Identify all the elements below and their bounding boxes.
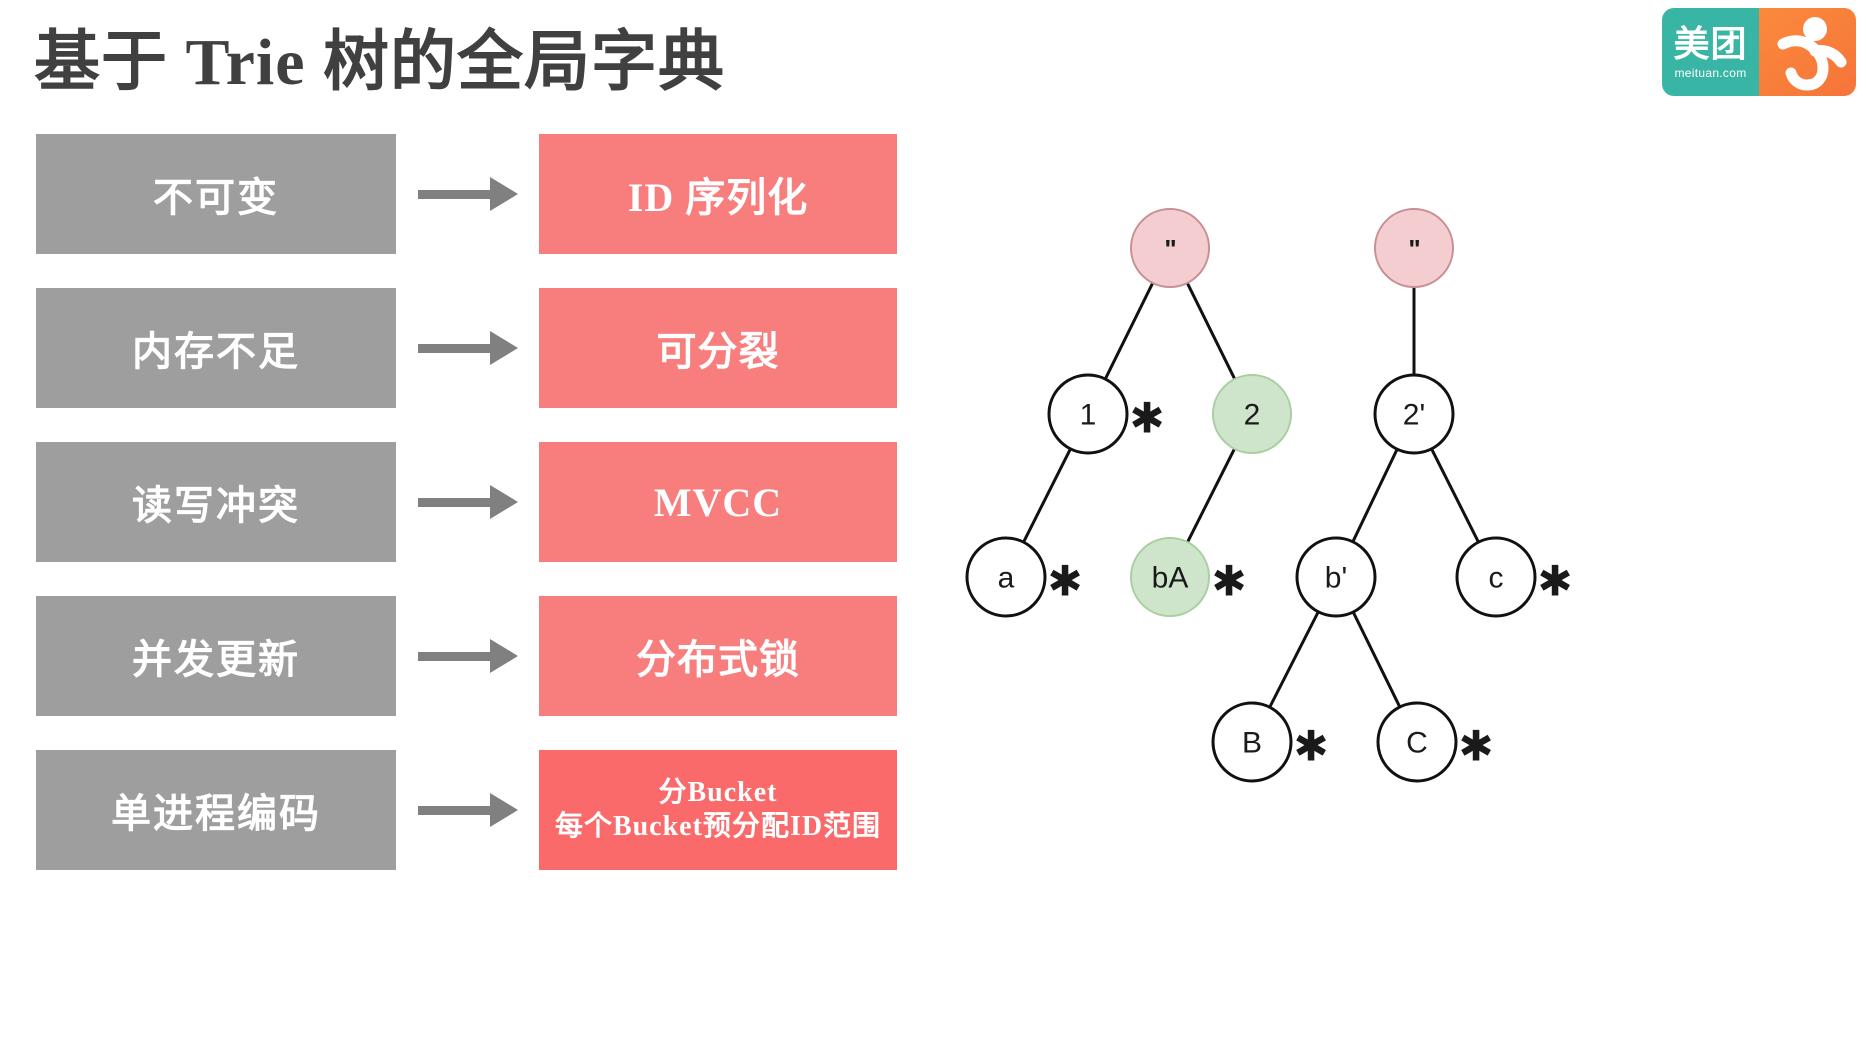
problem-label-2: 内存不足 — [132, 319, 300, 377]
trie-node-B[interactable]: B✱ — [1213, 703, 1329, 781]
logo-wordmark-panel: 美团 meituan.com — [1662, 8, 1759, 96]
solution-label-4: 分布式锁 — [636, 627, 800, 685]
solution-label-3: MVCC — [654, 479, 782, 526]
arrow-right-icon-1 — [418, 177, 518, 211]
arrow-right-icon-5 — [418, 793, 518, 827]
trie-node-[interactable]: " — [1375, 209, 1453, 287]
solution-label-5: 分Bucket 每个Bucket预分配ID范围 — [555, 776, 881, 844]
trie-node-label: 1 — [1080, 399, 1097, 432]
solution-label-5-line2: 每个Bucket预分配ID范围 — [555, 810, 881, 844]
terminal-star-icon: ✱ — [1129, 395, 1164, 442]
trie-edge — [1187, 283, 1234, 379]
trie-edge — [1024, 449, 1071, 542]
trie-node-label: a — [998, 562, 1015, 595]
trie-node-label: C — [1406, 727, 1428, 760]
problem-box-1: 不可变 — [36, 134, 396, 254]
trie-edge — [1353, 449, 1397, 542]
problem-box-4: 并发更新 — [36, 596, 396, 716]
arrow-shaft — [418, 806, 490, 815]
trie-node-2'[interactable]: 2' — [1375, 375, 1453, 453]
right-trie: "2'b'c✱B✱C✱ — [1213, 209, 1573, 781]
problem-label-4: 并发更新 — [132, 627, 300, 685]
arrow-shaft — [418, 652, 490, 661]
trie-node-label: " — [1408, 234, 1419, 264]
arrow-shaft — [418, 498, 490, 507]
trie-node-a[interactable]: a✱ — [967, 538, 1083, 616]
solution-box-3: MVCC — [539, 442, 897, 562]
trie-node-bA[interactable]: bA✱ — [1131, 538, 1247, 616]
trie-edge — [1188, 449, 1235, 542]
solution-label-5-line1: 分Bucket — [555, 776, 881, 810]
trie-node-label: b' — [1325, 562, 1347, 595]
arrow-head — [490, 177, 518, 211]
arrow-head — [490, 331, 518, 365]
trie-node-c[interactable]: c✱ — [1457, 538, 1573, 616]
trie-node-1[interactable]: 1✱ — [1049, 375, 1165, 453]
terminal-star-icon: ✱ — [1211, 558, 1246, 605]
arrow-right-icon-3 — [418, 485, 518, 519]
problem-box-5: 单进程编码 — [36, 750, 396, 870]
logo-chinese-name: 美团 — [1673, 26, 1747, 62]
trie-node-label: c — [1489, 562, 1504, 595]
trie-node-label: " — [1164, 234, 1175, 264]
trie-node-label: B — [1242, 727, 1262, 760]
terminal-star-icon: ✱ — [1293, 723, 1328, 770]
page-title: 基于 Trie 树的全局字典 — [34, 8, 725, 104]
arrow-head — [490, 639, 518, 673]
arrow-right-icon-4 — [418, 639, 518, 673]
arrow-shaft — [418, 344, 490, 353]
trie-node-b'[interactable]: b' — [1297, 538, 1375, 616]
left-trie: "1✱2a✱bA✱ — [967, 209, 1291, 616]
arrow-head — [490, 485, 518, 519]
problem-box-2: 内存不足 — [36, 288, 396, 408]
problem-box-3: 读写冲突 — [36, 442, 396, 562]
meituan-logo: 美团 meituan.com — [1662, 8, 1856, 96]
arrow-head — [490, 793, 518, 827]
problem-label-1: 不可变 — [153, 165, 279, 223]
trie-node-label: 2' — [1403, 399, 1425, 432]
logo-domain: meituan.com — [1675, 67, 1747, 79]
problem-label-3: 读写冲突 — [132, 473, 300, 531]
solution-box-1: ID 序列化 — [539, 134, 897, 254]
solution-label-2: 可分裂 — [657, 319, 780, 377]
logo-mascot-panel — [1759, 8, 1856, 96]
solution-label-1: ID 序列化 — [628, 165, 808, 223]
problem-label-5: 单进程编码 — [111, 781, 321, 839]
trie-edge — [1353, 612, 1400, 707]
terminal-star-icon: ✱ — [1047, 558, 1082, 605]
running-person-icon — [1759, 8, 1856, 96]
trie-canvas: "1✱2a✱bA✱"2'b'c✱B✱C✱ — [930, 150, 1866, 910]
trie-node-C[interactable]: C✱ — [1378, 703, 1494, 781]
trie-node-2[interactable]: 2 — [1213, 375, 1291, 453]
terminal-star-icon: ✱ — [1537, 558, 1572, 605]
trie-node-label: 2 — [1244, 399, 1261, 432]
trie-edge — [1432, 449, 1479, 542]
trie-node-[interactable]: " — [1131, 209, 1209, 287]
trie-edge — [1270, 612, 1319, 707]
solution-box-2: 可分裂 — [539, 288, 897, 408]
trie-edge — [1105, 283, 1152, 379]
arrow-shaft — [418, 190, 490, 199]
trie-node-label: bA — [1152, 562, 1189, 595]
solution-box-5: 分Bucket 每个Bucket预分配ID范围 — [539, 750, 897, 870]
terminal-star-icon: ✱ — [1458, 723, 1493, 770]
arrow-right-icon-2 — [418, 331, 518, 365]
trie-diagram: "1✱2a✱bA✱"2'b'c✱B✱C✱ — [930, 150, 1866, 910]
solution-box-4: 分布式锁 — [539, 596, 897, 716]
